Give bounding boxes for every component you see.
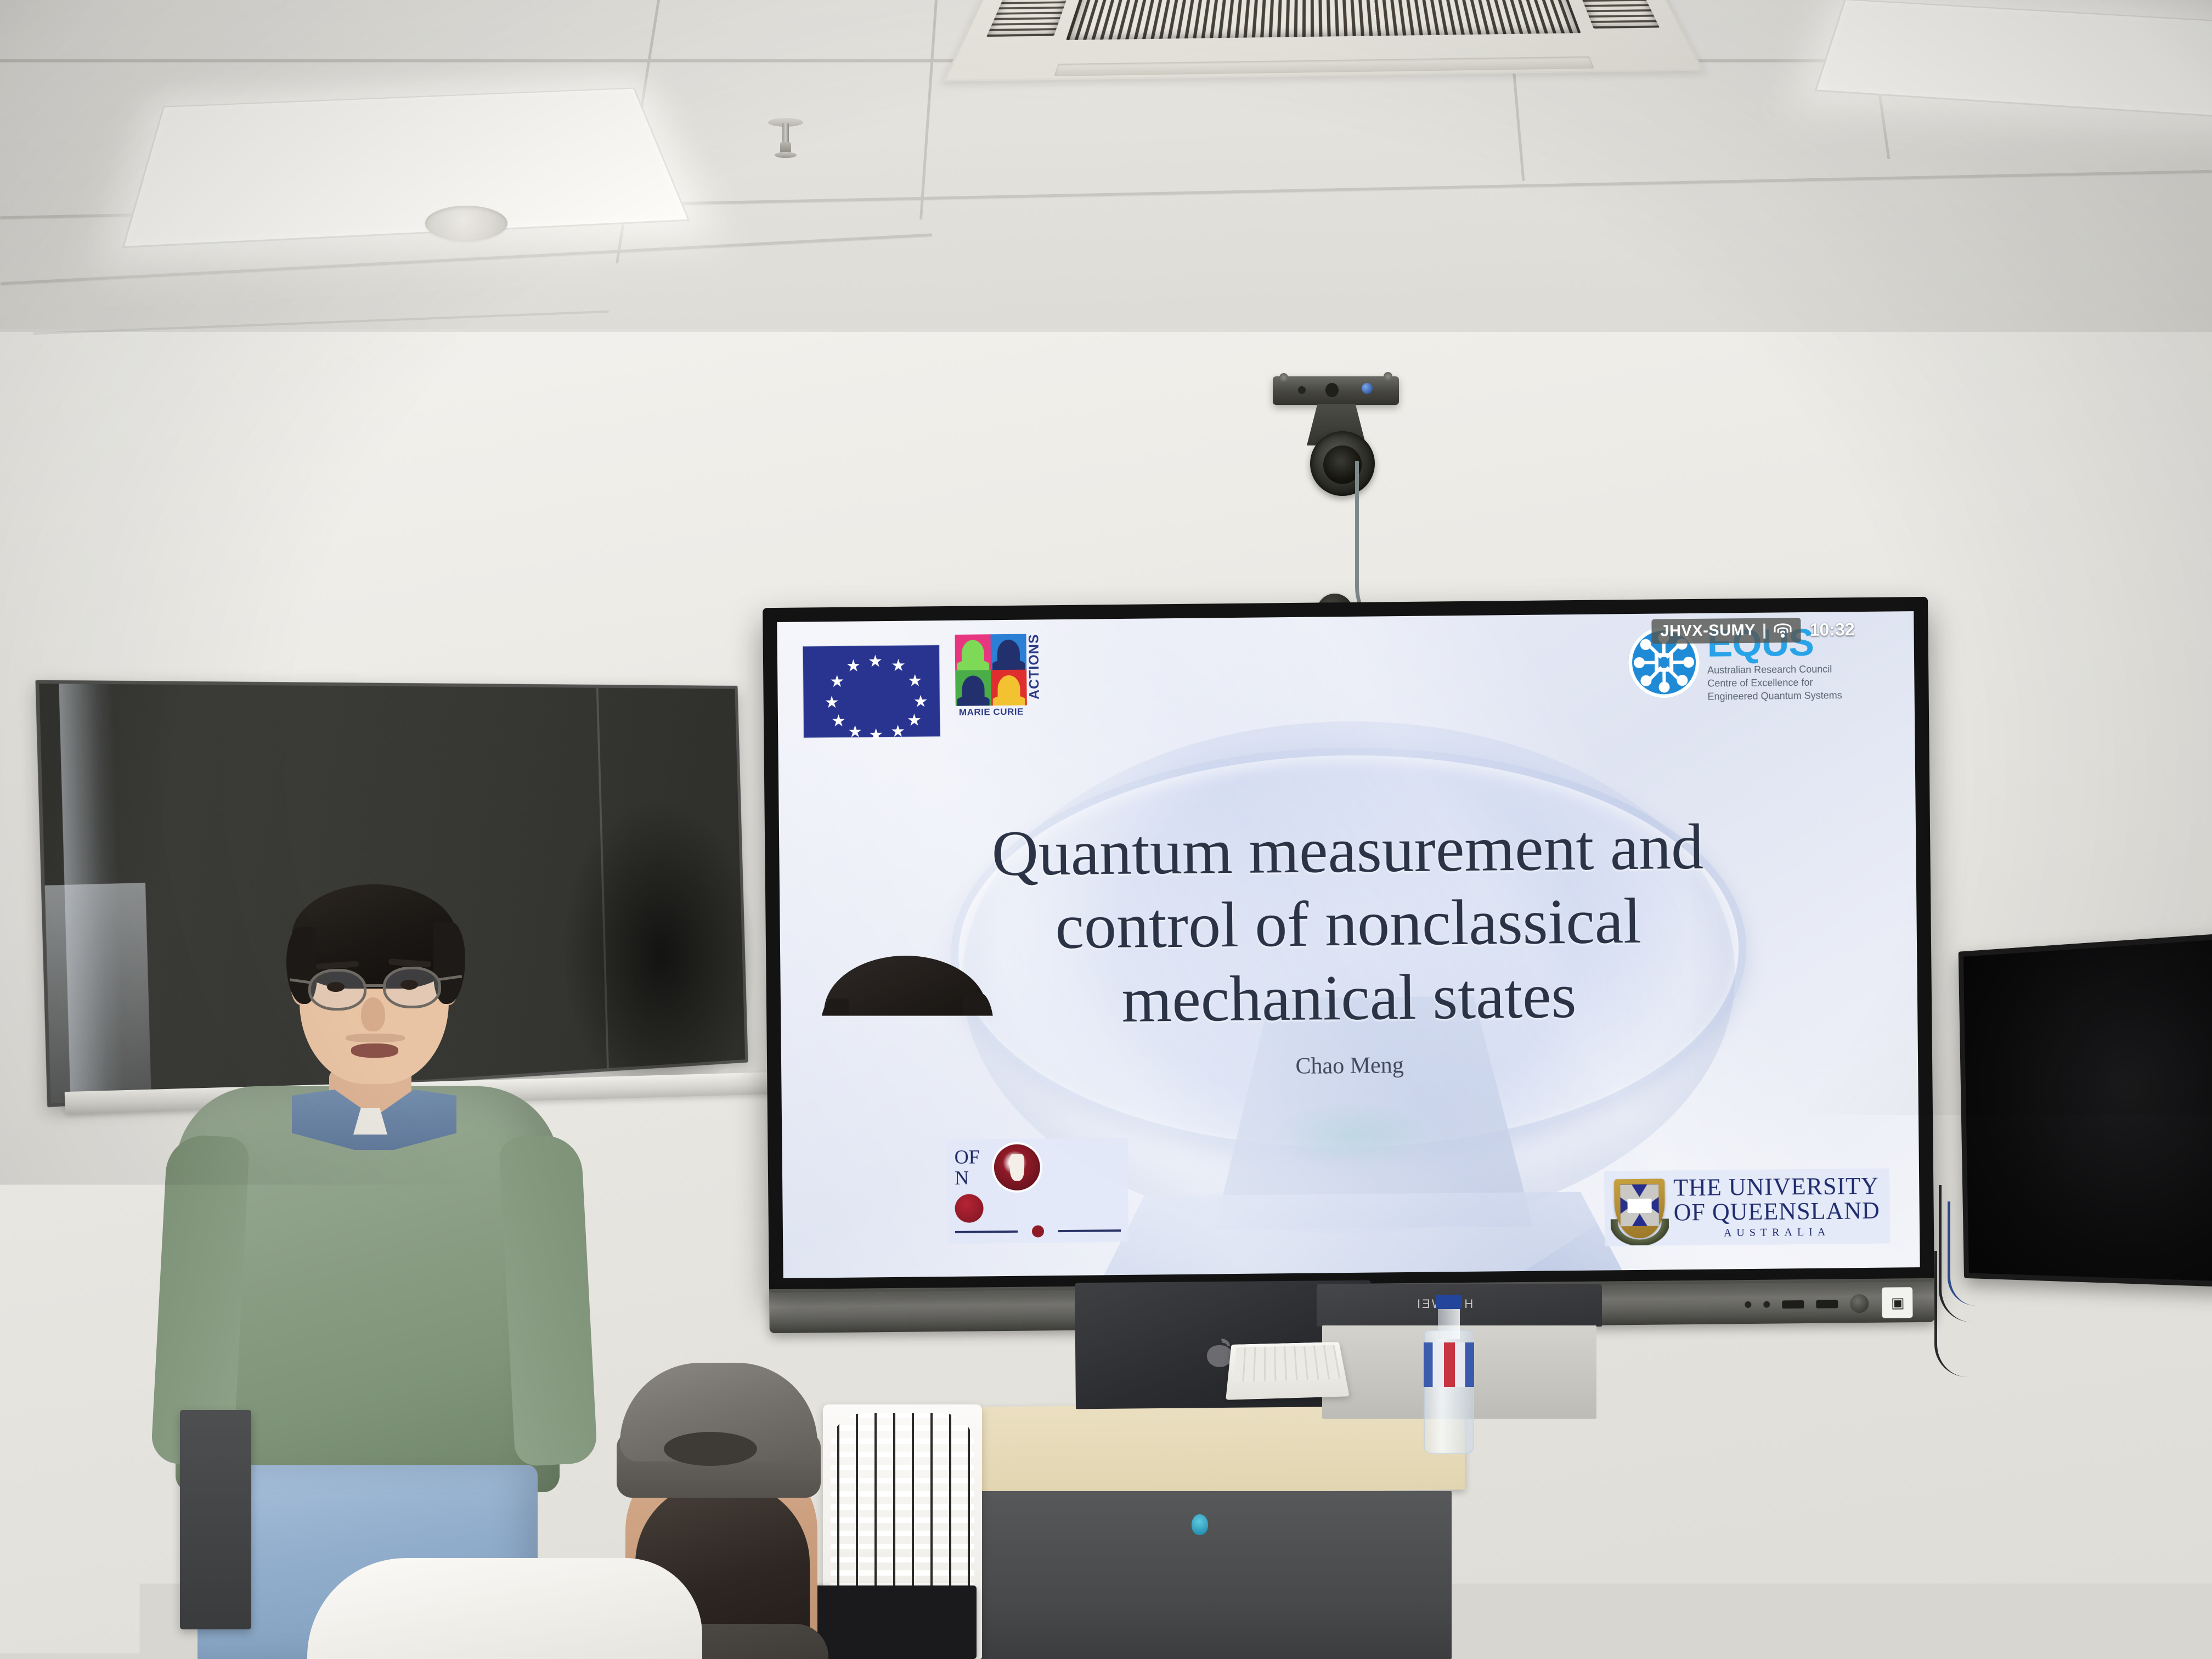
marie-curie-actions-logo: MARIE CURIE ACTIONS [955, 634, 1045, 706]
audience-front-left [307, 1558, 702, 1659]
display-port-cluster[interactable] [1745, 1294, 1869, 1314]
ceiling-cassette-air-conditioner [943, 0, 1704, 82]
recessed-panel-light [122, 88, 690, 249]
external-white-keyboard[interactable] [1226, 1342, 1350, 1400]
audience-front-right-shoulders [1344, 1569, 1772, 1659]
usb-port-icon[interactable] [1816, 1300, 1838, 1308]
equs-subtitle-line-3: Engineered Quantum Systems [1707, 689, 1842, 703]
indicator-dot-icon [1763, 1301, 1770, 1308]
power-button[interactable] [1850, 1294, 1869, 1313]
actions-wordmark: ACTIONS [1026, 634, 1045, 699]
network-name-label: JHVX-SUMY [1660, 622, 1756, 641]
camera-led-icon [1362, 383, 1373, 394]
marie-curie-wordmark: MARIE CURIE [956, 707, 1027, 718]
lecture-room-photo: ★ ★ ★ ★ ★ ★ ★ ★ ★ ★ ★ ★ [0, 0, 2212, 1659]
usb-port-icon[interactable] [1782, 1300, 1804, 1308]
ceiling [0, 0, 2212, 351]
display-status-bar: JHVX-SUMY | 10:32 [1651, 617, 1855, 644]
audience-front-right [1344, 1339, 1772, 1659]
north-face-logo [966, 1273, 1026, 1301]
floor-standing-speaker [180, 1410, 251, 1629]
slide-title-line-1: Quantum measurement and [825, 809, 1871, 893]
uq-line-1: THE UNIVERSITY [1673, 1174, 1880, 1200]
lectern-brand-badge [1192, 1514, 1208, 1535]
uq-line-2: OF QUEENSLAND [1674, 1199, 1880, 1225]
uq-line-3: AUSTRALIA [1674, 1226, 1880, 1240]
fire-sprinkler-head [768, 118, 803, 162]
indicator-dot-icon [1745, 1301, 1751, 1308]
equs-subtitle-line-1: Australian Research Council [1707, 662, 1842, 677]
presenter-left-arm-right [498, 1133, 597, 1466]
university-of-queensland-logo: THE UNIVERSITY OF QUEENSLAND AUSTRALIA [1604, 1169, 1890, 1246]
wifi-icon[interactable] [1774, 623, 1792, 637]
status-separator: | [1762, 622, 1767, 640]
recessed-panel-light [1815, 0, 2212, 120]
equs-subtitle-line-2: Centre of Excellence for [1707, 675, 1842, 690]
recessed-downlight [425, 206, 507, 241]
european-union-flag: ★ ★ ★ ★ ★ ★ ★ ★ ★ ★ ★ ★ [803, 645, 941, 738]
audience-front-right-hair [1366, 1339, 1750, 1602]
display-brand-badge: ▣ [1882, 1287, 1913, 1318]
apple-logo-icon [1207, 1339, 1232, 1367]
clock-label: 10:32 [1810, 619, 1855, 640]
tv-cable-bundle [1931, 1185, 2019, 1383]
uq-shield-icon [1614, 1178, 1665, 1238]
